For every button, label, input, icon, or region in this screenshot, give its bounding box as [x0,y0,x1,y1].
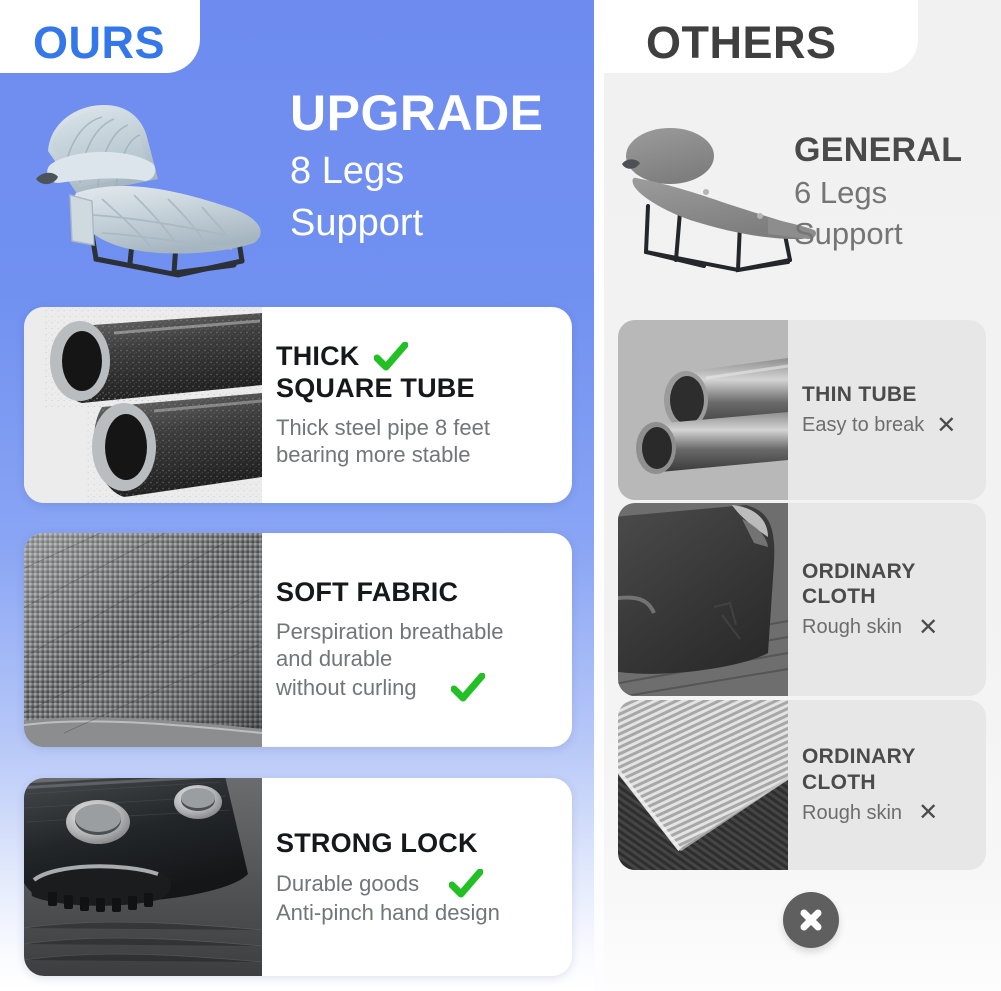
others-feature-body: ORDINARY CLOTH Rough skin ✕ [802,503,976,696]
check-icon [374,342,408,372]
others-feature-title-line1: ORDINARY [802,744,976,769]
others-hero: GENERAL 6 Legs Support [604,75,1001,300]
close-icon [796,905,826,935]
others-hero-text: GENERAL 6 Legs Support [794,133,1001,252]
padded-folding-lounge-cot-image [18,83,280,283]
ours-feature-desc-line2: Anti-pinch hand design [276,899,558,927]
ours-feature-desc-line3: without curling [276,674,417,702]
ours-feature-title-line2: SQUARE TUBE [276,373,558,405]
ours-feature-body: THICK SQUARE TUBE Thick steel pipe 8 fee… [276,307,558,503]
others-hero-sub-line2: Support [794,216,1001,252]
ours-feature-title-line1: THICK [276,341,360,373]
dark-plain-cloth-closeup-image [618,503,788,696]
ours-hero-text: UPGRADE 8 Legs Support [290,87,586,245]
others-feature-desc: Rough skin [802,615,902,640]
ours-feature-body: SOFT FABRIC Perspiration breathable and … [276,533,558,747]
woven-fabric-closeup-image [24,533,262,747]
tab-others-label: OTHERS [646,20,837,65]
ours-feature-desc-line1: Durable goods [276,870,419,898]
others-hero-headline: GENERAL [794,133,1001,169]
ours-feature-desc-line1: Thick steel pipe 8 feet [276,414,558,442]
x-circle-badge [783,892,839,948]
ours-hero-headline: UPGRADE [290,87,586,140]
others-feature-title-line1: ORDINARY [802,559,976,584]
ours-feature-desc-line1: Perspiration breathable [276,618,558,646]
ours-feature-desc-line2: bearing more stable [276,441,558,469]
ours-feature-body: STRONG LOCK Durable goods Anti-pinch han… [276,778,558,976]
ours-hero-sub-line2: Support [290,202,586,245]
others-feature-card[interactable]: THIN TUBE Easy to break ✕ [618,320,986,500]
others-feature-desc: Rough skin [802,801,902,826]
others-hero-sub-line1: 6 Legs [794,175,1001,211]
ours-feature-card[interactable]: THICK SQUARE TUBE Thick steel pipe 8 fee… [24,307,572,503]
check-icon [451,673,485,703]
others-feature-desc: Easy to break [802,413,924,438]
ours-hero: UPGRADE 8 Legs Support [0,75,594,300]
others-feature-card[interactable]: ORDINARY CLOTH Rough skin ✕ [618,503,986,696]
thin-round-tube-closeup-image [618,320,788,500]
ours-feature-card[interactable]: STRONG LOCK Durable goods Anti-pinch han… [24,778,572,976]
metal-lock-hinge-closeup-image [24,778,262,976]
x-icon: ✕ [918,801,938,825]
others-feature-body: THIN TUBE Easy to break ✕ [802,320,976,500]
tab-ours-label: OURS [33,20,165,65]
ours-feature-title-line1: STRONG LOCK [276,828,558,860]
others-feature-card[interactable]: ORDINARY CLOTH Rough skin ✕ [618,700,986,870]
panel-divider [594,0,604,991]
x-icon: ✕ [936,414,956,438]
others-feature-title-line2: CLOTH [802,770,976,795]
ours-feature-card[interactable]: SOFT FABRIC Perspiration breathable and … [24,533,572,747]
striped-cloth-closeup-image [618,700,788,870]
x-icon: ✕ [918,616,938,640]
others-feature-title-line2: CLOTH [802,584,976,609]
others-feature-body: ORDINARY CLOTH Rough skin ✕ [802,700,976,870]
ours-feature-desc-line2: and durable [276,645,558,673]
tab-ours[interactable]: OURS [0,0,200,73]
ours-hero-sub-line1: 8 Legs [290,150,586,193]
square-steel-tube-closeup-image [24,307,262,503]
comparison-infographic: OURS OTHERS [0,0,1001,991]
others-feature-title-line1: THIN TUBE [802,382,976,407]
check-icon [449,869,483,899]
tab-others[interactable]: OTHERS [604,0,918,73]
ours-feature-title-line1: SOFT FABRIC [276,577,558,609]
